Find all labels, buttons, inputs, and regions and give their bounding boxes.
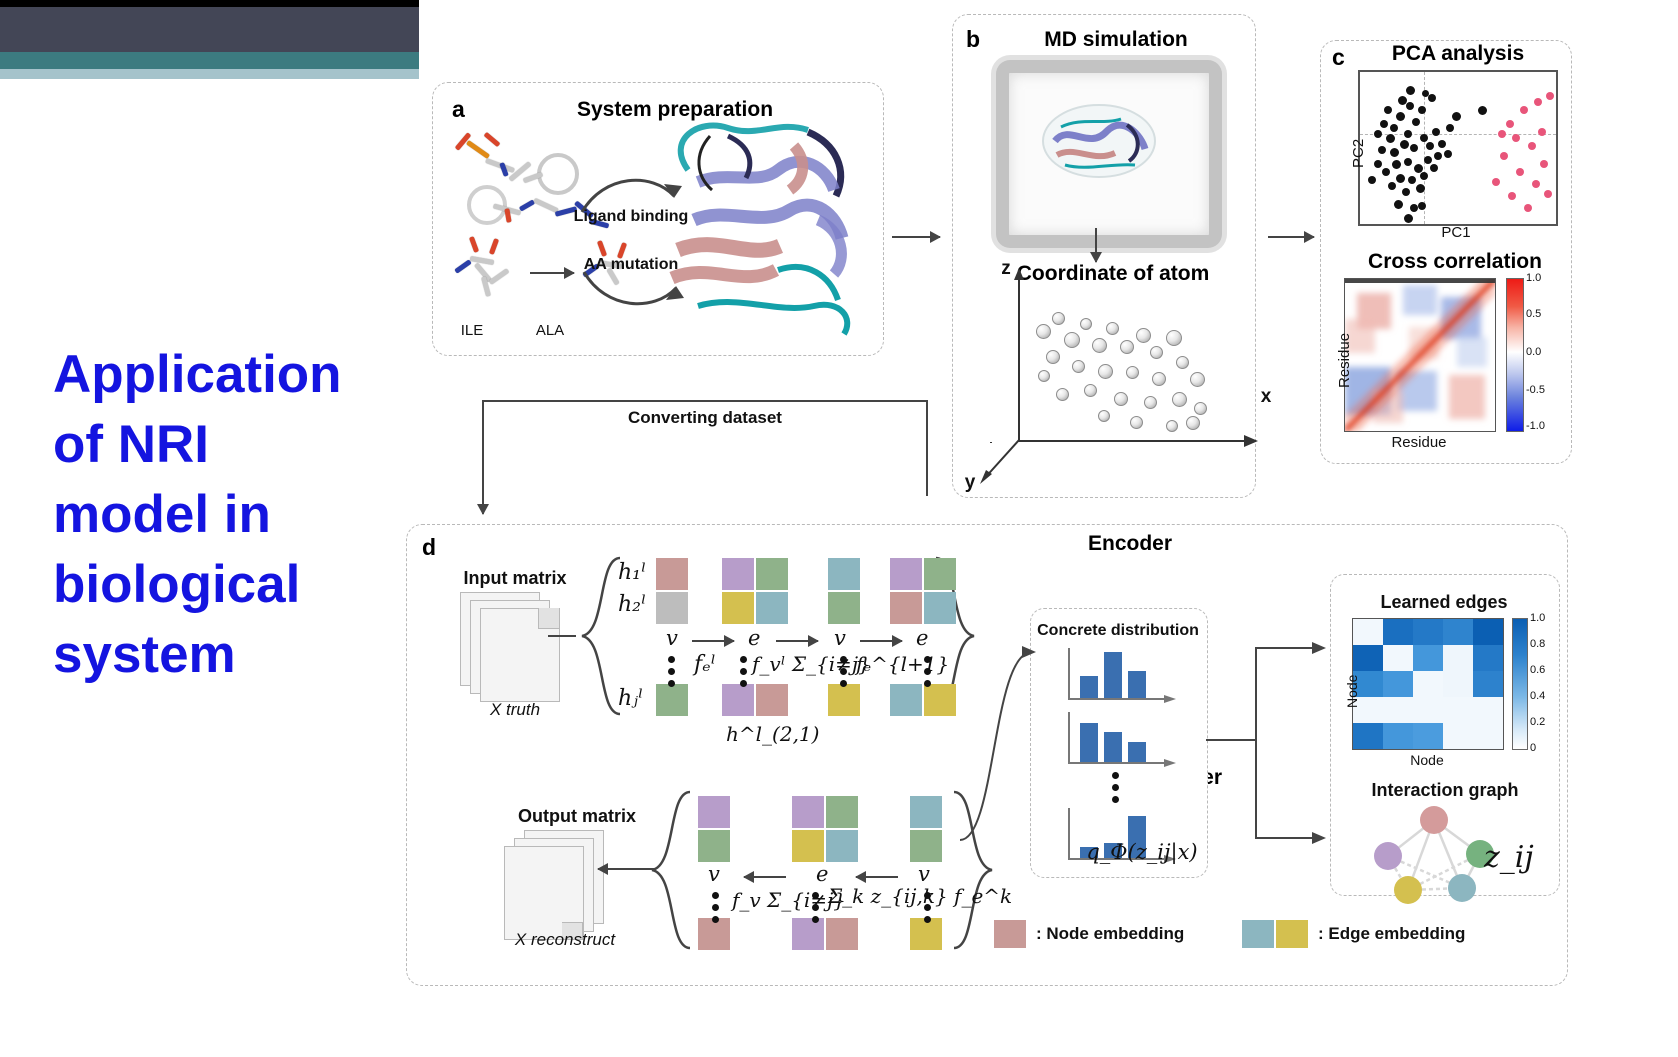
encoder-op-2: f_vˡ Σ_{i≠j}: [752, 652, 871, 676]
decoder-output-arrow: [598, 868, 654, 870]
graph-node-bottom-left: [1394, 876, 1422, 904]
ile-label: ILE: [442, 322, 502, 339]
axis-label-z: z: [996, 258, 1016, 280]
le-cell: [1473, 645, 1503, 671]
legend-edge-embedding-label: : Edge embedding: [1318, 924, 1538, 944]
header-navy-bar: [0, 7, 419, 52]
slide-title: Application of NRI model in biological s…: [53, 340, 413, 690]
input-matrix-label: Input matrix: [440, 568, 590, 589]
le-cell: [1383, 619, 1413, 645]
encoder-edge-sq-3a: [722, 684, 754, 716]
pca-ylabel: PC2: [1350, 139, 1367, 168]
le-cell: [1353, 645, 1383, 671]
legend-node-embedding-swatch: [994, 920, 1026, 948]
le-cell: [1443, 671, 1473, 697]
slide-header-decoration: [0, 0, 419, 80]
decoder-edge-sq-a: [792, 796, 824, 828]
le-cell: [1413, 619, 1443, 645]
le-cell: [1443, 619, 1473, 645]
le-cell: [1383, 645, 1413, 671]
output-matrix-icon: [500, 830, 610, 940]
encoder-edge-sq-3b: [756, 684, 788, 716]
encoder-op-1: fₑˡ: [694, 652, 716, 677]
le-colorbar-tick-6: 0: [1530, 742, 1536, 754]
encoder-dots-3: [840, 656, 847, 692]
encoder-edge2-sq-1b: [924, 558, 956, 590]
encoder-flow-e1: e: [748, 626, 760, 650]
learned-edges-xlabel: Node: [1382, 752, 1472, 768]
learned-edges-ylabel: Node: [1344, 675, 1360, 708]
cross-correlation-xlabel: Residue: [1374, 434, 1464, 451]
interaction-graph-symbol: z_ij: [1484, 840, 1534, 875]
panel-c-title: PCA analysis: [1358, 42, 1558, 66]
le-cell: [1383, 697, 1413, 723]
encoder-edge-sq-2b: [756, 592, 788, 624]
encoder-edge2-sq-3a: [890, 684, 922, 716]
decoder-edge-sq-e: [792, 918, 824, 950]
cc-colorbar-tick-2: 0.5: [1526, 308, 1541, 320]
axis-label-x: x: [1256, 386, 1276, 408]
encoder-arrow-1: [692, 640, 734, 642]
coordinate-axes: [980, 268, 1250, 488]
arrow-box-to-coords: [1095, 228, 1097, 262]
decoder-dots-1: [712, 892, 719, 928]
panel-b-label: b: [966, 26, 980, 53]
legend-node-embedding-label: : Node embedding: [1036, 924, 1256, 944]
encoder-edge-sq-2a: [722, 592, 754, 624]
encoder-edge2-sq-2b: [924, 592, 956, 624]
encoder-node-sq-1: [656, 558, 688, 590]
cross-correlation-title: Cross correlation: [1330, 250, 1580, 274]
learned-edges-matrix: [1352, 618, 1504, 750]
cross-correlation-heatmap: [1344, 278, 1496, 432]
le-cell: [1443, 645, 1473, 671]
panel-d-label: d: [422, 534, 436, 561]
encoder-op-3: fₑ^{l+1}: [856, 652, 949, 676]
concrete-bar-chart-2: [1068, 712, 1176, 764]
encoder-flow-v2: v: [834, 626, 846, 650]
header-black-bar: [0, 0, 419, 7]
decoder-node2-sq-2: [910, 830, 942, 862]
learned-edges-colorbar: [1512, 618, 1528, 750]
encoder-row-label-1: h₁ˡ: [618, 560, 646, 585]
encoder-arrow-2: [776, 640, 818, 642]
output-matrix-label: Output matrix: [492, 806, 662, 827]
le-cell: [1383, 723, 1413, 749]
slide-title-line-1: Application: [53, 340, 413, 410]
le-cell: [1443, 723, 1473, 749]
header-teal-bar: [0, 52, 419, 69]
decoder-brace-left: [650, 790, 690, 950]
cc-colorbar-tick-1: 1.0: [1526, 272, 1541, 284]
interaction-graph-title: Interaction graph: [1330, 780, 1560, 801]
encoder-dots-1: [668, 656, 675, 692]
le-cell: [1473, 671, 1503, 697]
concrete-bar-chart-1: [1068, 648, 1176, 700]
le-colorbar-tick-2: 0.8: [1530, 638, 1545, 650]
legend-edge-embedding-swatch-1: [1242, 920, 1274, 948]
le-cell: [1413, 645, 1443, 671]
cross-correlation-canvas: [1345, 279, 1495, 431]
pca-scatter-plot: [1358, 70, 1558, 226]
graph-node-top: [1420, 806, 1448, 834]
panel-a-label: a: [452, 96, 465, 123]
solvated-water-box: [996, 60, 1222, 248]
decoder-node-sq-1a: [698, 796, 730, 828]
output-matrix-caption: X reconstruct: [490, 930, 640, 950]
encoder-title: Encoder: [1040, 532, 1220, 556]
learned-edges-title: Learned edges: [1334, 592, 1554, 613]
panel-c-label: c: [1332, 44, 1345, 71]
header-light-bar: [0, 69, 419, 79]
encoder-arrow-3: [860, 640, 902, 642]
arrow-b-to-c: [1268, 236, 1314, 238]
protein-in-box: [1041, 101, 1157, 179]
converting-dataset-label: Converting dataset: [590, 408, 820, 428]
le-colorbar-tick-4: 0.4: [1530, 690, 1545, 702]
cc-colorbar-tick-3: 0.0: [1526, 346, 1541, 358]
encoder-h21-label: h^l_(2,1): [726, 722, 819, 746]
slide-title-line-4: biological: [53, 550, 413, 620]
le-cell: [1473, 723, 1503, 749]
le-cell: [1413, 723, 1443, 749]
decoder-edge-sq-f: [826, 918, 858, 950]
arrow-a-to-b: [892, 236, 940, 238]
graph-node-left: [1374, 842, 1402, 870]
le-cell: [1443, 697, 1473, 723]
concrete-dots: [1112, 772, 1119, 808]
decoder-edge-sq-b: [826, 796, 858, 828]
cross-correlation-ylabel: Residue: [1336, 333, 1353, 388]
encoder-dots-4: [924, 656, 931, 692]
concrete-split-connector: [1206, 620, 1346, 900]
input-matrix-caption: X truth: [450, 700, 580, 720]
encoder-node-sq-2: [656, 592, 688, 624]
encoder-row-label-2: h₂ˡ: [618, 592, 646, 617]
encoder-node2-sq-1: [828, 558, 860, 590]
decoder-flow-v1: v: [708, 862, 720, 886]
decoder-arrow-2: [856, 876, 898, 878]
encoder-flow-e2: e: [916, 626, 928, 650]
pca-xlabel: PC1: [1406, 224, 1506, 241]
encoder-edge2-sq-2a: [890, 592, 922, 624]
decoder-arrow-1: [744, 876, 786, 878]
cross-correlation-colorbar: [1506, 278, 1524, 432]
legend-edge-embedding-swatch-2: [1276, 920, 1308, 948]
le-cell: [1353, 723, 1383, 749]
slide-title-line-5: system: [53, 620, 413, 690]
slide-title-line-2: of NRI: [53, 410, 413, 480]
ile-molecule: [452, 240, 522, 302]
concrete-formula: q_Φ(z_ij|x): [1062, 840, 1222, 864]
decoder-edge-sq-d: [826, 830, 858, 862]
ala-label: ALA: [520, 322, 580, 339]
decoder-flow-v2: v: [918, 862, 930, 886]
le-cell: [1413, 671, 1443, 697]
input-matrix-icon: [460, 592, 570, 702]
encoder-edge-sq-1a: [722, 558, 754, 590]
figure-canvas: a System preparation ILE: [400, 0, 1678, 1057]
slide-title-line-3: model in: [53, 480, 413, 550]
decoder-edge-sq-c: [792, 830, 824, 862]
converting-dataset-line-right: [926, 400, 928, 496]
encoder-brace-left: [576, 556, 622, 720]
encoder-flow-v1: v: [666, 626, 678, 650]
le-cell: [1473, 619, 1503, 645]
converting-dataset-arrow: [482, 400, 484, 514]
decoder-node2-sq-1: [910, 796, 942, 828]
panel-b-title: MD simulation: [996, 28, 1236, 52]
encoder-edge2-sq-1a: [890, 558, 922, 590]
le-cell: [1413, 697, 1443, 723]
protein-cartoon: [658, 110, 873, 342]
encoder-node2-sq-2: [828, 592, 860, 624]
concrete-distribution-title: Concrete distribution: [1030, 622, 1206, 640]
axis-label-y: y: [960, 472, 980, 494]
le-colorbar-tick-3: 0.6: [1530, 664, 1545, 676]
cc-colorbar-tick-4: -0.5: [1526, 384, 1545, 396]
concrete-connector: [956, 640, 1040, 890]
le-colorbar-tick-1: 1.0: [1530, 612, 1545, 624]
encoder-row-label-3: hⱼˡ: [618, 686, 643, 711]
decoder-node-sq-1b: [698, 830, 730, 862]
cc-colorbar-tick-5: -1.0: [1526, 420, 1545, 432]
encoder-dots-2: [740, 656, 747, 692]
decoder-dots-2: [812, 892, 819, 928]
le-colorbar-tick-5: 0.2: [1530, 716, 1545, 728]
converting-dataset-line-h: [482, 400, 928, 402]
le-cell: [1353, 619, 1383, 645]
decoder-flow-e1: e: [816, 862, 828, 886]
encoder-edge-sq-1b: [756, 558, 788, 590]
le-cell: [1473, 697, 1503, 723]
decoder-dots-3: [924, 892, 931, 928]
le-cell: [1383, 671, 1413, 697]
graph-node-bottom-right: [1448, 874, 1476, 902]
